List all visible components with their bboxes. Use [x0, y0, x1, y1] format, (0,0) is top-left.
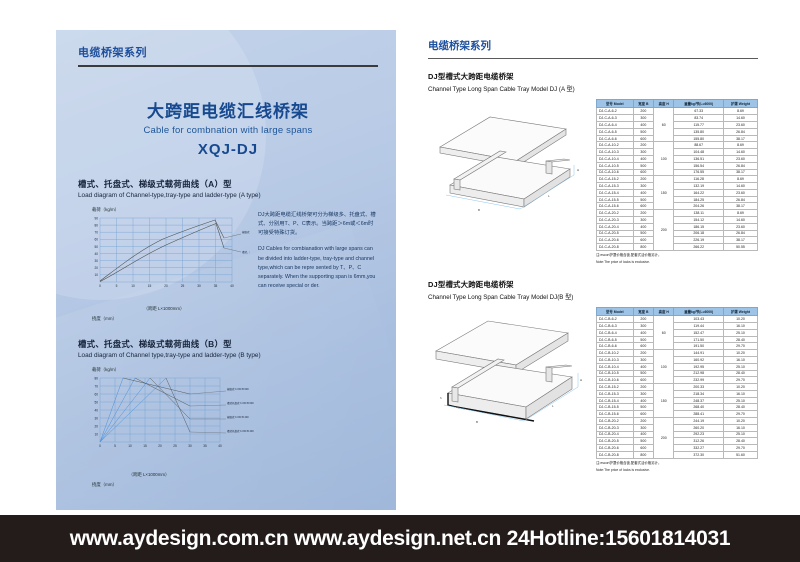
cell-width: 300	[633, 424, 653, 431]
description-en: DJ Cables for combianation with large sp…	[258, 245, 378, 291]
col-width: 宽度 B	[633, 308, 653, 316]
table-row: DJ-C-B-6-5500171.5028.40	[597, 336, 758, 343]
table-row: DJ-C-A-15-2200150116.288.69	[597, 176, 758, 183]
svg-text:30: 30	[197, 284, 201, 288]
product-title-en: Cable for combnation with large spans	[78, 125, 378, 136]
cell-model: DJ-C-A-6-2	[597, 108, 634, 115]
note-b-en: Note:The price of locks is exclusive.	[596, 468, 758, 473]
cell-weight: 155.80	[674, 135, 723, 142]
cell-cover: 28.40	[723, 336, 757, 343]
right-series-label: 电缆桥架系列	[428, 38, 758, 53]
svg-text:20: 20	[164, 284, 168, 288]
svg-text:10: 10	[94, 432, 98, 436]
svg-text:40: 40	[218, 444, 222, 448]
svg-text:60: 60	[94, 392, 98, 396]
cell-weight: 312.26	[674, 438, 723, 445]
svg-text:20: 20	[94, 266, 98, 270]
table-row: DJ-C-A-20-6600226.1938.17	[597, 237, 758, 244]
spec-block-b-title-cn: DJ型槽式大跨距电缆桥架	[428, 279, 758, 290]
table-row: DJ-C-B-15-2200150200.3310.20	[597, 384, 758, 391]
cell-weight: 103.43	[674, 316, 723, 323]
cell-cover: 28.40	[723, 370, 757, 377]
svg-text:B: B	[476, 420, 478, 424]
product-title-cn: 大跨距电缆汇线桥架	[78, 97, 378, 122]
cell-cover: 25.10	[723, 329, 757, 336]
cell-weight: 119.44	[674, 323, 723, 330]
cell-weight: 67.33	[674, 108, 723, 115]
cell-cover: 26.84	[723, 128, 757, 135]
svg-text:25: 25	[173, 444, 177, 448]
cell-model: DJ-C-A-10-5	[597, 162, 634, 169]
cell-cover: 10.20	[723, 418, 757, 425]
cell-cover: 8.69	[723, 176, 757, 183]
col-cover: 护罩 Weight	[723, 100, 757, 108]
cell-model: DJ-C-A-20-2	[597, 210, 634, 217]
cell-weight: 212.98	[674, 370, 723, 377]
col-weight: 重量kg/节(L=6000)	[674, 308, 723, 316]
table-row: DJ-C-A-20-8800266.2250.55	[597, 244, 758, 251]
cell-height: 200	[654, 210, 674, 251]
table-row: DJ-C-B-10-3300160.9216.10	[597, 356, 758, 363]
cell-height: 100	[654, 350, 674, 384]
table-row: DJ-C-A-20-3300154.1214.60	[597, 216, 758, 223]
spec-block-a-title-en: Channel Type Long Span Cable Tray Model …	[428, 84, 758, 93]
svg-text:梯级式 b 150 B 600: 梯级式 b 150 B 600	[227, 387, 249, 391]
col-height: 高度 H	[654, 308, 674, 316]
cell-cover: 8.69	[723, 142, 757, 149]
cell-model: DJ-C-B-20-5	[597, 438, 634, 445]
cell-weight: 260.20	[674, 424, 723, 431]
cell-model: DJ-C-A-10-4	[597, 155, 634, 162]
svg-text:梯级式 b 150 B 600: 梯级式 b 150 B 600	[242, 230, 250, 234]
chart-b-xlabel2: 挠度（mm）	[92, 482, 278, 488]
note-b-cn: 注:escort护罩价格含锁,配套式活价格另计。	[596, 461, 758, 466]
cell-height: 200	[654, 418, 674, 459]
svg-text:L: L	[548, 194, 550, 198]
cell-weight: 372.30	[674, 451, 723, 458]
table-row: DJ-C-B-20-5500312.2628.40	[597, 438, 758, 445]
cell-width: 400	[633, 189, 653, 196]
table-row: DJ-C-B-10-5500212.9828.40	[597, 370, 758, 377]
load-chart-b: 载荷（kg/m）	[78, 367, 278, 488]
cell-model: DJ-C-B-6-5	[597, 336, 634, 343]
col-model: 型号 Model	[597, 100, 634, 108]
cell-width: 400	[633, 223, 653, 230]
description-block: DJ大跨距电缆汇线桥架可分为梯级多、托盘式、槽式、分别用T、P、C表示。当跨距＞…	[250, 207, 378, 322]
cell-weight: 83.74	[674, 115, 723, 122]
cell-width: 400	[633, 155, 653, 162]
cell-model: DJ-C-B-20-2	[597, 418, 634, 425]
table-row: DJ-C-A-10-3300104.4814.60	[597, 149, 758, 156]
cell-weight: 176.55	[674, 169, 723, 176]
table-row: DJ-C-A-20-5500206.1826.84	[597, 230, 758, 237]
svg-text:90: 90	[94, 216, 98, 220]
cell-model: DJ-C-B-10-3	[597, 356, 634, 363]
cell-weight: 115.77	[674, 122, 723, 129]
chart-b-svg: 8070 6050 4030 2010 05 1015 2025 3035 40	[78, 374, 278, 466]
cell-cover: 23.60	[723, 223, 757, 230]
svg-text:30: 30	[94, 259, 98, 263]
cell-width: 200	[633, 316, 653, 323]
cell-cover: 14.60	[723, 183, 757, 190]
svg-text:30: 30	[188, 444, 192, 448]
cell-cover: 16.10	[723, 424, 757, 431]
cell-model: DJ-C-A-15-2	[597, 176, 634, 183]
spec-block-a-title-cn: DJ型槽式大跨距电缆桥架	[428, 71, 758, 82]
cable-tray-isometric-b: B L H h	[428, 307, 596, 473]
cell-cover: 38.17	[723, 237, 757, 244]
table-row: DJ-C-A-15-6600204.2638.17	[597, 203, 758, 210]
product-title-block: 大跨距电缆汇线桥架 Cable for combnation with larg…	[78, 97, 378, 158]
cell-weight: 116.28	[674, 176, 723, 183]
cell-weight: 184.25	[674, 196, 723, 203]
cell-model: DJ-C-A-20-5	[597, 230, 634, 237]
table-row: DJ-C-A-20-2200200138.118.69	[597, 210, 758, 217]
cell-cover: 26.84	[723, 196, 757, 203]
cell-weight: 226.19	[674, 237, 723, 244]
cell-weight: 144.91	[674, 350, 723, 357]
cell-width: 200	[633, 384, 653, 391]
cell-cover: 8.69	[723, 108, 757, 115]
spec-block-b: DJ型槽式大跨距电缆桥架 Channel Type Long Span Cabl…	[428, 279, 758, 473]
svg-text:70: 70	[94, 384, 98, 388]
cell-cover: 28.40	[723, 438, 757, 445]
cell-width: 400	[633, 122, 653, 129]
table-row: DJ-C-A-6-330083.7414.60	[597, 115, 758, 122]
cell-weight: 232.99	[674, 377, 723, 384]
cell-model: DJ-C-B-20-4	[597, 431, 634, 438]
cell-weight: 154.12	[674, 216, 723, 223]
table-row: DJ-C-A-6-22006067.338.69	[597, 108, 758, 115]
cell-weight: 292.23	[674, 431, 723, 438]
section-a-title-cn: 槽式、托盘式、梯级式载荷曲线（A）型	[78, 178, 378, 190]
cell-width: 400	[633, 363, 653, 370]
svg-text:70: 70	[94, 230, 98, 234]
table-row: DJ-C-B-20-2200200244.1910.20	[597, 418, 758, 425]
spec-table-a: 型号 Model 宽度 B 高度 H 重量kg/节(L=6000) 护罩 Wei…	[596, 99, 758, 251]
spec-block-a: DJ型槽式大跨距电缆桥架 Channel Type Long Span Cabl…	[428, 71, 758, 265]
table-row: DJ-C-B-6-6600191.5029.70	[597, 343, 758, 350]
cell-cover: 25.10	[723, 431, 757, 438]
cell-weight: 288.41	[674, 411, 723, 418]
svg-text:10: 10	[94, 273, 98, 277]
cell-cover: 10.20	[723, 350, 757, 357]
cell-cover: 50.55	[723, 244, 757, 251]
cable-tray-isometric-a: B L H	[428, 99, 596, 265]
table-row: DJ-C-A-10-220010088.678.69	[597, 142, 758, 149]
table-row: DJ-C-B-6-220060103.4310.20	[597, 316, 758, 323]
footer-banner: www.aydesign.com.cn www.aydesign.net.cn …	[0, 515, 800, 562]
table-row: DJ-C-A-20-4400186.1523.60	[597, 223, 758, 230]
table-row: DJ-C-A-10-4400136.5123.60	[597, 155, 758, 162]
cell-weight: 200.33	[674, 384, 723, 391]
cell-cover: 16.10	[723, 356, 757, 363]
svg-text:B: B	[478, 208, 480, 212]
cell-model: DJ-C-A-15-3	[597, 183, 634, 190]
cell-model: DJ-C-A-6-4	[597, 122, 634, 129]
cell-model: DJ-C-B-15-6	[597, 411, 634, 418]
svg-text:60: 60	[94, 237, 98, 241]
cell-width: 400	[633, 329, 653, 336]
cell-height: 150	[654, 384, 674, 418]
cell-model: DJ-C-A-10-3	[597, 149, 634, 156]
svg-text:80: 80	[94, 376, 98, 380]
cell-width: 500	[633, 196, 653, 203]
cell-model: DJ-C-B-10-2	[597, 350, 634, 357]
cell-weight: 88.67	[674, 142, 723, 149]
cell-cover: 14.60	[723, 216, 757, 223]
cell-cover: 38.17	[723, 135, 757, 142]
cell-model: DJ-C-B-20-3	[597, 424, 634, 431]
spec-block-b-title-en: Channel Type Long Span Cable Tray Model …	[428, 292, 758, 301]
table-row: DJ-C-B-10-2200100144.9110.20	[597, 350, 758, 357]
cell-cover: 29.70	[723, 377, 757, 384]
cell-weight: 218.34	[674, 390, 723, 397]
cell-cover: 25.10	[723, 397, 757, 404]
cell-weight: 160.92	[674, 356, 723, 363]
table-row: DJ-C-B-15-6600288.4129.70	[597, 411, 758, 418]
cell-weight: 266.22	[674, 244, 723, 251]
right-header-rule	[428, 58, 758, 59]
cell-width: 400	[633, 397, 653, 404]
svg-text:5: 5	[116, 284, 118, 288]
left-panel: 电缆桥架系列 大跨距电缆汇线桥架 Cable for combnation wi…	[56, 30, 396, 510]
table-row: DJ-C-B-6-4400152.4725.10	[597, 329, 758, 336]
cell-model: DJ-C-A-10-2	[597, 142, 634, 149]
cell-model: DJ-C-B-20-8	[597, 451, 634, 458]
cell-width: 600	[633, 411, 653, 418]
chart-a-ylabel: 载荷（kg/m）	[92, 207, 250, 213]
table-header-row: 型号 Model 宽度 B 高度 H 重量kg/节(L=6000) 护罩 Wei…	[597, 100, 758, 108]
cell-cover: 26.84	[723, 230, 757, 237]
cell-model: DJ-C-B-15-2	[597, 384, 634, 391]
chart-a-xlabel2: 挠度（mm）	[92, 316, 250, 322]
cell-model: DJ-C-A-15-4	[597, 189, 634, 196]
cell-model: DJ-C-A-10-6	[597, 169, 634, 176]
chart-a-svg: 9080 7060 5040 3020 10 05 1015 2025 3035	[78, 214, 250, 300]
cell-width: 300	[633, 323, 653, 330]
svg-text:槽式托盘式 b 150 B 400: 槽式托盘式 b 150 B 400	[227, 429, 254, 433]
cell-weight: 332.27	[674, 445, 723, 452]
cell-cover: 23.60	[723, 155, 757, 162]
cell-width: 300	[633, 216, 653, 223]
cell-width: 400	[633, 431, 653, 438]
cell-width: 600	[633, 343, 653, 350]
cell-weight: 152.47	[674, 329, 723, 336]
cell-model: DJ-C-A-6-6	[597, 135, 634, 142]
cell-weight: 268.40	[674, 404, 723, 411]
table-row: DJ-C-A-15-5500184.2526.84	[597, 196, 758, 203]
cell-weight: 156.54	[674, 162, 723, 169]
cell-width: 600	[633, 445, 653, 452]
cell-weight: 164.22	[674, 189, 723, 196]
cell-width: 200	[633, 108, 653, 115]
cell-cover: 26.84	[723, 162, 757, 169]
cell-width: 600	[633, 169, 653, 176]
cell-cover: 38.17	[723, 169, 757, 176]
cell-model: DJ-C-A-6-3	[597, 115, 634, 122]
cell-width: 500	[633, 438, 653, 445]
chart-a-xlabel: （跨距 L×1000mm）	[78, 306, 250, 312]
footer-contact-text: www.aydesign.com.cn www.aydesign.net.cn …	[70, 527, 731, 551]
table-row: DJ-C-B-20-3300260.2016.10	[597, 424, 758, 431]
product-code: XQJ-DJ	[78, 141, 378, 158]
cell-weight: 186.15	[674, 223, 723, 230]
cell-model: DJ-C-A-15-5	[597, 196, 634, 203]
svg-text:50: 50	[94, 400, 98, 404]
svg-text:25: 25	[181, 284, 185, 288]
cell-weight: 248.37	[674, 397, 723, 404]
svg-text:30: 30	[94, 416, 98, 420]
cell-model: DJ-C-A-20-8	[597, 244, 634, 251]
left-header-rule	[78, 65, 378, 67]
col-height: 高度 H	[654, 100, 674, 108]
cell-width: 200	[633, 142, 653, 149]
table-row: DJ-C-B-15-4400248.3725.10	[597, 397, 758, 404]
cell-weight: 244.19	[674, 418, 723, 425]
table-row: DJ-C-B-20-8800372.3051.60	[597, 451, 758, 458]
cell-model: DJ-C-A-20-3	[597, 216, 634, 223]
col-width: 宽度 B	[633, 100, 653, 108]
cell-cover: 23.60	[723, 122, 757, 129]
cell-width: 600	[633, 237, 653, 244]
svg-text:L: L	[552, 404, 554, 408]
cell-cover: 25.10	[723, 363, 757, 370]
cell-width: 600	[633, 203, 653, 210]
col-cover: 护罩 Weight	[723, 308, 757, 316]
cell-weight: 138.11	[674, 210, 723, 217]
catalog-page: 电缆桥架系列 大跨距电缆汇线桥架 Cable for combnation wi…	[0, 0, 800, 562]
cell-model: DJ-C-B-6-3	[597, 323, 634, 330]
spec-table-b: 型号 Model 宽度 B 高度 H 重量kg/节(L=6000) 护罩 Wei…	[596, 307, 758, 459]
cell-width: 200	[633, 210, 653, 217]
spec-table-b-body: DJ-C-B-6-220060103.4310.20DJ-C-B-6-33001…	[597, 316, 758, 458]
table-row: DJ-C-B-15-5500268.4028.40	[597, 404, 758, 411]
cell-model: DJ-C-B-20-6	[597, 445, 634, 452]
cell-weight: 135.80	[674, 128, 723, 135]
cell-model: DJ-C-B-15-5	[597, 404, 634, 411]
svg-text:梯级式 b 150 B 400: 梯级式 b 150 B 400	[227, 415, 249, 419]
cell-width: 500	[633, 128, 653, 135]
cell-height: 100	[654, 142, 674, 176]
cell-width: 200	[633, 350, 653, 357]
cell-width: 500	[633, 404, 653, 411]
svg-text:35: 35	[203, 444, 207, 448]
cell-model: DJ-C-B-10-5	[597, 370, 634, 377]
svg-text:0: 0	[99, 284, 101, 288]
cell-width: 500	[633, 230, 653, 237]
cell-cover: 29.70	[723, 343, 757, 350]
spec-table-a-body: DJ-C-A-6-22006067.338.69DJ-C-A-6-330083.…	[597, 108, 758, 250]
cell-cover: 51.60	[723, 451, 757, 458]
table-row: DJ-C-A-6-4400115.7723.60	[597, 122, 758, 129]
section-a-title-en: Load diagram of Channel-type,tray-type a…	[78, 192, 378, 199]
svg-text:10: 10	[128, 444, 132, 448]
cell-cover: 10.20	[723, 384, 757, 391]
cell-width: 500	[633, 162, 653, 169]
table-row: DJ-C-A-6-5500135.8026.84	[597, 128, 758, 135]
section-b-title-cn: 槽式、托盘式、梯级式载荷曲线（B）型	[78, 338, 378, 350]
svg-text:H: H	[577, 168, 579, 172]
cell-model: DJ-C-B-10-4	[597, 363, 634, 370]
col-model: 型号 Model	[597, 308, 634, 316]
cell-weight: 192.95	[674, 363, 723, 370]
svg-text:0: 0	[99, 444, 101, 448]
cell-cover: 16.10	[723, 323, 757, 330]
cell-weight: 204.26	[674, 203, 723, 210]
cell-model: DJ-C-B-10-6	[597, 377, 634, 384]
cell-weight: 191.50	[674, 343, 723, 350]
table-row: DJ-C-A-10-6600176.5538.17	[597, 169, 758, 176]
svg-text:5: 5	[114, 444, 116, 448]
cell-width: 800	[633, 244, 653, 251]
cell-height: 60	[654, 108, 674, 142]
chart-b-xlabel: （跨距 L×1000mm）	[78, 472, 220, 478]
cell-width: 600	[633, 135, 653, 142]
cell-width: 300	[633, 183, 653, 190]
svg-text:40: 40	[230, 284, 234, 288]
svg-text:40: 40	[94, 251, 98, 255]
svg-text:h: h	[440, 396, 442, 400]
table-row: DJ-C-B-10-4400192.9525.10	[597, 363, 758, 370]
svg-text:槽式、托盘式 b 150 B 600: 槽式、托盘式 b 150 B 600	[242, 250, 250, 254]
svg-text:35: 35	[214, 284, 218, 288]
chart-b-ylabel: 载荷（kg/m）	[92, 367, 278, 373]
svg-text:15: 15	[143, 444, 147, 448]
table-header-row: 型号 Model 宽度 B 高度 H 重量kg/节(L=6000) 护罩 Wei…	[597, 308, 758, 316]
svg-text:50: 50	[94, 244, 98, 248]
cell-width: 300	[633, 390, 653, 397]
cell-width: 300	[633, 149, 653, 156]
svg-text:40: 40	[94, 408, 98, 412]
cell-model: DJ-C-A-15-6	[597, 203, 634, 210]
svg-text:20: 20	[94, 424, 98, 428]
cell-cover: 29.70	[723, 445, 757, 452]
cell-cover: 29.70	[723, 411, 757, 418]
cell-model: DJ-C-B-6-4	[597, 329, 634, 336]
cell-cover: 28.40	[723, 404, 757, 411]
cell-model: DJ-C-B-15-4	[597, 397, 634, 404]
cell-cover: 38.17	[723, 203, 757, 210]
cell-cover: 10.20	[723, 316, 757, 323]
cell-cover: 14.60	[723, 115, 757, 122]
section-b-title-en: Load diagram of Channel type,tray-type a…	[78, 352, 378, 359]
cell-width: 800	[633, 451, 653, 458]
cell-model: DJ-C-A-20-4	[597, 223, 634, 230]
table-row: DJ-C-A-6-6600155.8038.17	[597, 135, 758, 142]
note-a-cn: 注:escort护罩价格含锁,配套式活价格另计。	[596, 253, 758, 258]
cell-weight: 104.48	[674, 149, 723, 156]
svg-text:15: 15	[148, 284, 152, 288]
table-row: DJ-C-B-10-6600232.9929.70	[597, 377, 758, 384]
table-row: DJ-C-B-20-6600332.2729.70	[597, 445, 758, 452]
cell-model: DJ-C-B-6-6	[597, 343, 634, 350]
note-a-en: Note:The price of locks is exclusive.	[596, 260, 758, 265]
cell-width: 300	[633, 115, 653, 122]
table-row: DJ-C-A-15-3300132.1914.60	[597, 183, 758, 190]
cell-model: DJ-C-A-6-5	[597, 128, 634, 135]
table-row: DJ-C-A-15-4400164.2223.60	[597, 189, 758, 196]
cell-model: DJ-C-B-15-3	[597, 390, 634, 397]
cell-height: 60	[654, 316, 674, 350]
cell-weight: 171.50	[674, 336, 723, 343]
table-row: DJ-C-B-20-4400292.2325.10	[597, 431, 758, 438]
cell-weight: 206.18	[674, 230, 723, 237]
cell-height: 150	[654, 176, 674, 210]
cell-width: 200	[633, 418, 653, 425]
cell-model: DJ-C-B-6-2	[597, 316, 634, 323]
col-weight: 重量kg/节(L=6000)	[674, 100, 723, 108]
